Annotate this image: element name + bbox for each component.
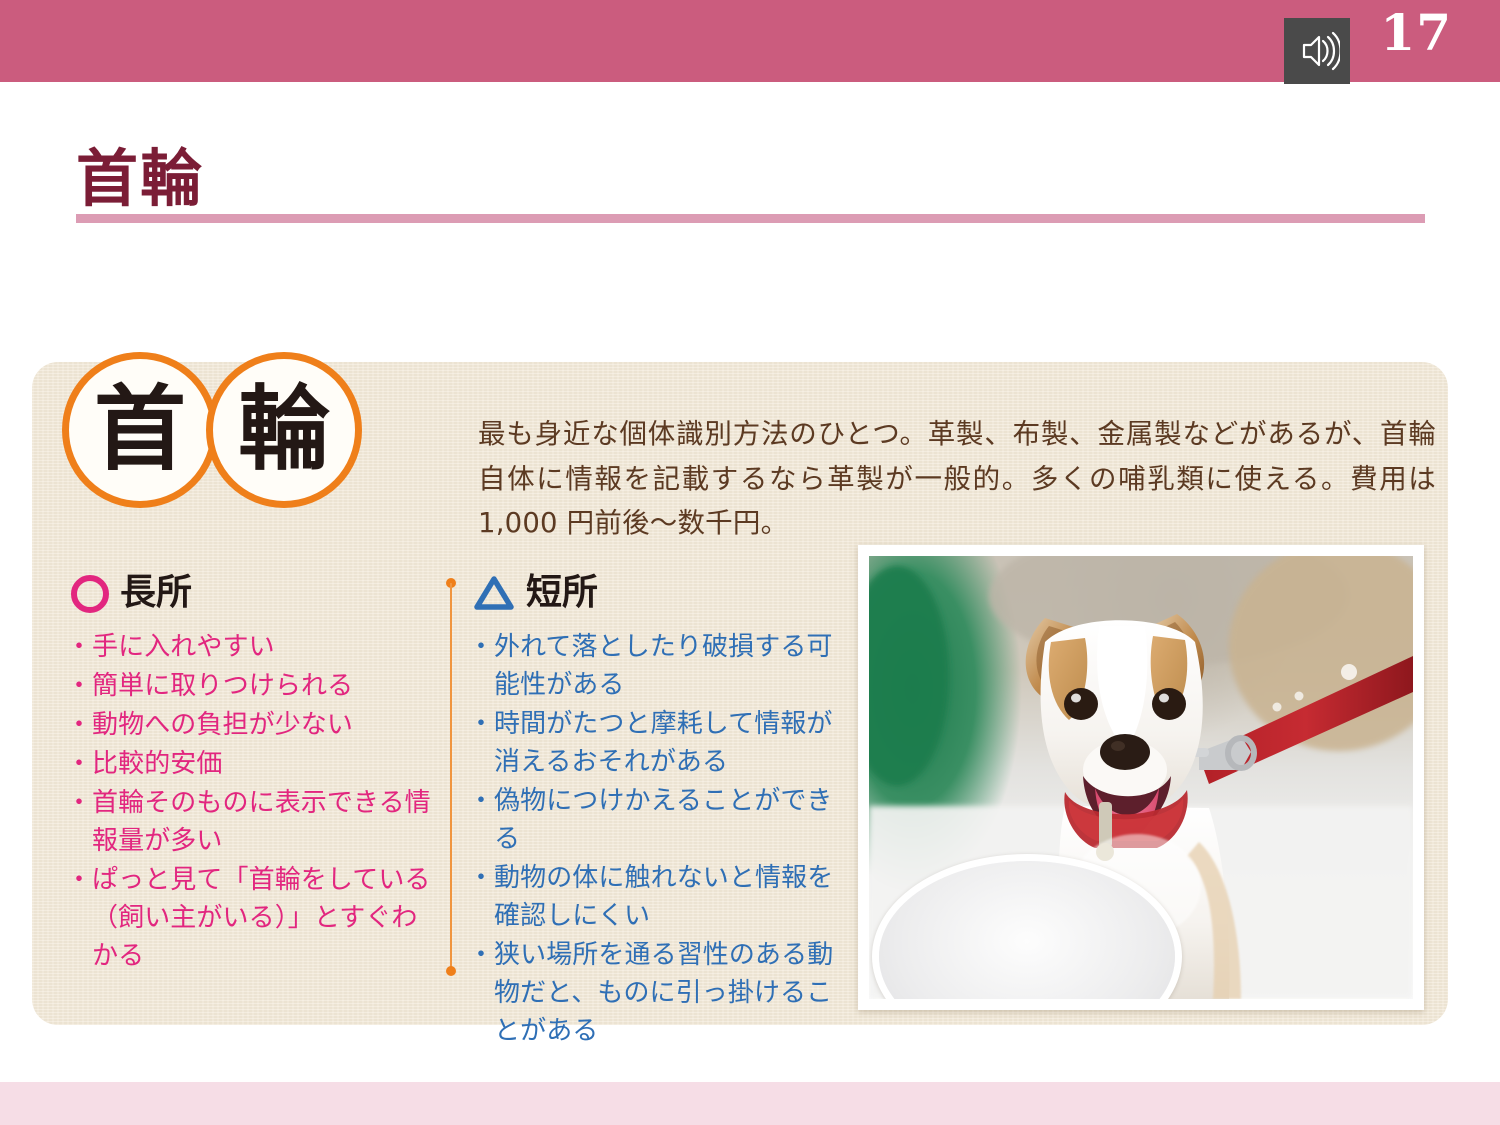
cons-heading: 短所	[470, 567, 842, 619]
pros-heading-label: 長所	[120, 575, 192, 611]
divider-dot-bottom	[446, 966, 456, 976]
list-item: 動物の体に触れないと情報を確認しにくい	[470, 860, 842, 936]
list-item: 動物への負担が少ない	[68, 707, 440, 745]
list-item: 首輪そのものに表示できる情報量が多い	[68, 785, 440, 861]
list-item: 手に入れやすい	[68, 629, 440, 667]
description-text: 最も身近な個体識別方法のひとつ。革製、布製、金属製などがあるが、首輪自体に情報を…	[478, 412, 1436, 546]
list-item: 外れて落としたり破損する可能性がある	[470, 629, 842, 705]
triangle-outline-icon	[470, 571, 518, 615]
page-title: 首輪	[76, 148, 204, 210]
content-card: 首 輪 最も身近な個体識別方法のひとつ。革製、布製、金属製などがあるが、首輪自体…	[32, 362, 1448, 1025]
list-item: 偽物につけかえることができる	[470, 783, 842, 859]
title-underline	[76, 214, 1425, 223]
speaker-sound-icon[interactable]	[1284, 18, 1350, 84]
kanji-badge-2: 輪	[206, 352, 362, 508]
list-item: 時間がたつと摩耗して情報が消えるおそれがある	[470, 706, 842, 782]
list-item: ぱっと見て「首輪をしている（飼い主がいる）」とすぐわかる	[68, 862, 440, 976]
cons-heading-label: 短所	[526, 575, 598, 611]
list-item: 簡単に取りつけられる	[68, 668, 440, 706]
pros-column: 長所 手に入れやすい 簡単に取りつけられる 動物への負担が少ない 比較的安価 首…	[68, 567, 440, 977]
footer-band	[0, 1082, 1500, 1125]
dog-photo	[869, 556, 1413, 999]
column-divider	[446, 578, 456, 976]
pros-list: 手に入れやすい 簡単に取りつけられる 動物への負担が少ない 比較的安価 首輪その…	[68, 629, 440, 976]
inset-background	[879, 861, 1175, 999]
kanji-badge-group: 首 輪	[62, 352, 362, 508]
cons-column: 短所 外れて落としたり破損する可能性がある 時間がたつと摩耗して情報が消えるおそ…	[470, 567, 842, 1051]
kanji-badge-1: 首	[62, 352, 218, 508]
divider-line	[450, 583, 452, 971]
page-number: 17	[1380, 8, 1452, 58]
list-item: 比較的安価	[68, 746, 440, 784]
cons-list: 外れて落としたり破損する可能性がある 時間がたつと摩耗して情報が消えるおそれがあ…	[470, 629, 842, 1050]
slide-root: 17 首輪 首 輪 最も身近な個体識別方法のひとつ。革製、布製、金属製などがある…	[0, 0, 1500, 1125]
list-item: 狭い場所を通る習性のある動物だと、ものに引っ掛けることがある	[470, 937, 842, 1051]
pros-heading: 長所	[68, 567, 440, 619]
photo-frame	[858, 545, 1424, 1010]
circle-outline-icon	[68, 571, 112, 615]
header-band: 17	[0, 0, 1500, 82]
collar-product-inset	[872, 854, 1182, 999]
